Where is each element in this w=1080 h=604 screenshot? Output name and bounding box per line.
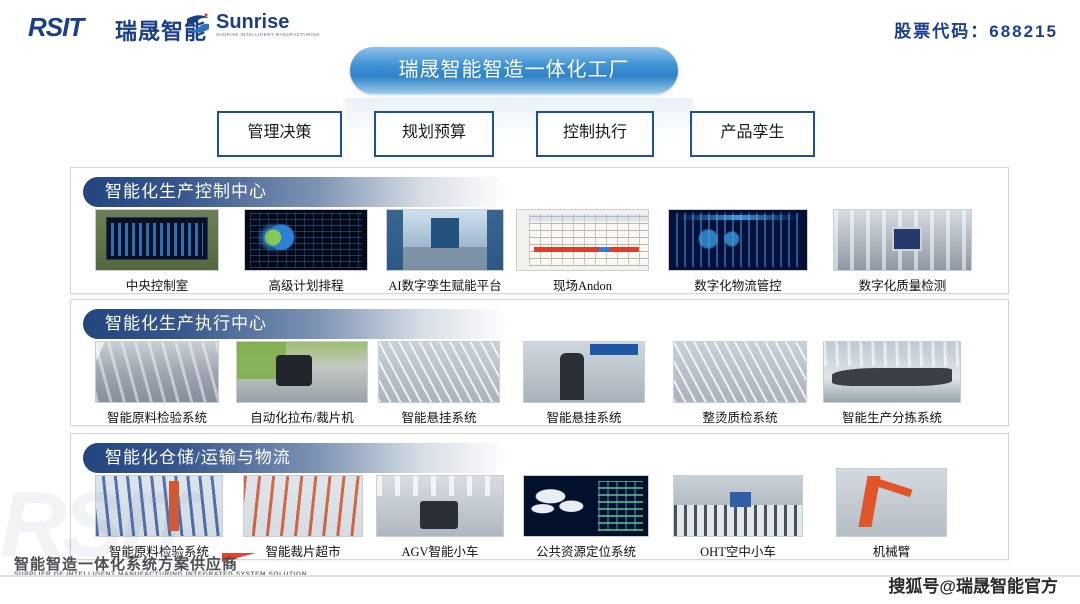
- card-caption: 数字化物流管控: [668, 275, 808, 294]
- card-caption: 智能原料检验系统: [95, 407, 219, 426]
- card-smart-material-inspection[interactable]: 智能原料检验系统: [95, 341, 219, 426]
- card-onsite-andon[interactable]: 现场Andon: [516, 209, 649, 294]
- section-header-bar: 智能化仓储/运输与物流: [83, 443, 508, 473]
- card-smart-hanging-system-a[interactable]: 智能悬挂系统: [378, 341, 500, 426]
- thumbnail-ironing-quality-inspection: [673, 341, 807, 403]
- thumbnail-smart-production-sorting: [823, 341, 961, 403]
- thumbnail-smart-hanging-system-a: [378, 341, 500, 403]
- sunrise-logo-text: Sunrise: [216, 11, 289, 34]
- thumbnail-central-control-room: [95, 209, 219, 271]
- thumbnail-advanced-planning-scheduling: [244, 209, 368, 271]
- card-caption: 自动化拉布/裁片机: [236, 407, 368, 426]
- thumbnail-smart-hanging-system-b: [523, 341, 645, 403]
- thumbnail-smart-material-inspection: [95, 341, 219, 403]
- card-advanced-planning-scheduling[interactable]: 高级计划排程: [244, 209, 368, 294]
- card-ai-digital-twin-platform[interactable]: AI数字孪生赋能平台: [386, 209, 504, 294]
- card-caption: 整烫质检系统: [673, 407, 807, 426]
- card-caption: AI数字孪生赋能平台: [386, 275, 504, 294]
- section-title: 智能化仓储/运输与物流: [105, 443, 291, 473]
- pillar-box-management-decision[interactable]: 管理决策: [217, 111, 342, 157]
- card-ironing-quality-inspection[interactable]: 整烫质检系统: [673, 341, 807, 426]
- section-header-bar: 智能化生产执行中心: [83, 309, 508, 339]
- section-header-bar: 智能化生产控制中心: [83, 177, 508, 207]
- thumbnail-ai-digital-twin-platform: [386, 209, 504, 271]
- sohu-account-watermark: 搜狐号@瑞晟智能官方: [888, 572, 1058, 597]
- thumbnail-digital-quality-inspection: [833, 209, 972, 271]
- card-caption: 高级计划排程: [244, 275, 368, 294]
- thumbnail-digital-logistics-control: [668, 209, 808, 271]
- thumbnail-oht-overhead-vehicle: [673, 475, 803, 537]
- card-smart-hanging-system-b[interactable]: 智能悬挂系统: [523, 341, 645, 426]
- card-caption: 智能悬挂系统: [378, 407, 500, 426]
- card-digital-logistics-control[interactable]: 数字化物流管控: [668, 209, 808, 294]
- card-digital-quality-inspection[interactable]: 数字化质量检测: [833, 209, 972, 294]
- main-title-text: 瑞晟智能智造一体化工厂: [350, 47, 678, 94]
- card-smart-production-sorting[interactable]: 智能生产分拣系统: [823, 341, 961, 426]
- section-production-control-center: 智能化生产控制中心 中央控制室 高级计划排程 AI数字孪生赋能平台 现场Ando…: [70, 167, 1009, 294]
- sunrise-logo-icon: [185, 12, 211, 36]
- pillar-box-control-execution[interactable]: 控制执行: [536, 111, 654, 157]
- thumbnail-onsite-andon: [516, 209, 649, 271]
- card-central-control-room[interactable]: 中央控制室: [95, 209, 219, 294]
- thumbnail-robotic-arm: [836, 468, 947, 537]
- rsit-logo-text: RSIT: [28, 12, 83, 43]
- stock-code-label: 股票代码：688215: [894, 17, 1058, 42]
- card-caption: 智能生产分拣系统: [823, 407, 961, 426]
- pillar-box-product-twin[interactable]: 产品孪生: [690, 111, 815, 157]
- card-caption: 现场Andon: [516, 275, 649, 294]
- section-title: 智能化生产执行中心: [105, 309, 267, 339]
- card-caption: 智能悬挂系统: [523, 407, 645, 426]
- section-production-execution-center: 智能化生产执行中心 智能原料检验系统 自动化拉布/裁片机 智能悬挂系统 智能悬挂…: [70, 299, 1009, 426]
- card-robotic-arm[interactable]: 机械臂: [836, 468, 947, 560]
- main-title-pill: 瑞晟智能智造一体化工厂: [350, 47, 678, 94]
- page-header: RSIT 瑞晟智能 Sunrise SUNRISE INTELLIGENT MA…: [0, 0, 1080, 46]
- card-auto-spreading-cutting[interactable]: 自动化拉布/裁片机: [236, 341, 368, 426]
- sunrise-logo-subtitle: SUNRISE INTELLIGENT MANUFACTURING: [216, 32, 320, 37]
- thumbnail-auto-spreading-cutting: [236, 341, 368, 403]
- card-caption: 数字化质量检测: [833, 275, 972, 294]
- card-caption: 中央控制室: [95, 275, 219, 294]
- pillar-box-planning-budget[interactable]: 规划预算: [374, 111, 494, 157]
- section-title: 智能化生产控制中心: [105, 177, 267, 207]
